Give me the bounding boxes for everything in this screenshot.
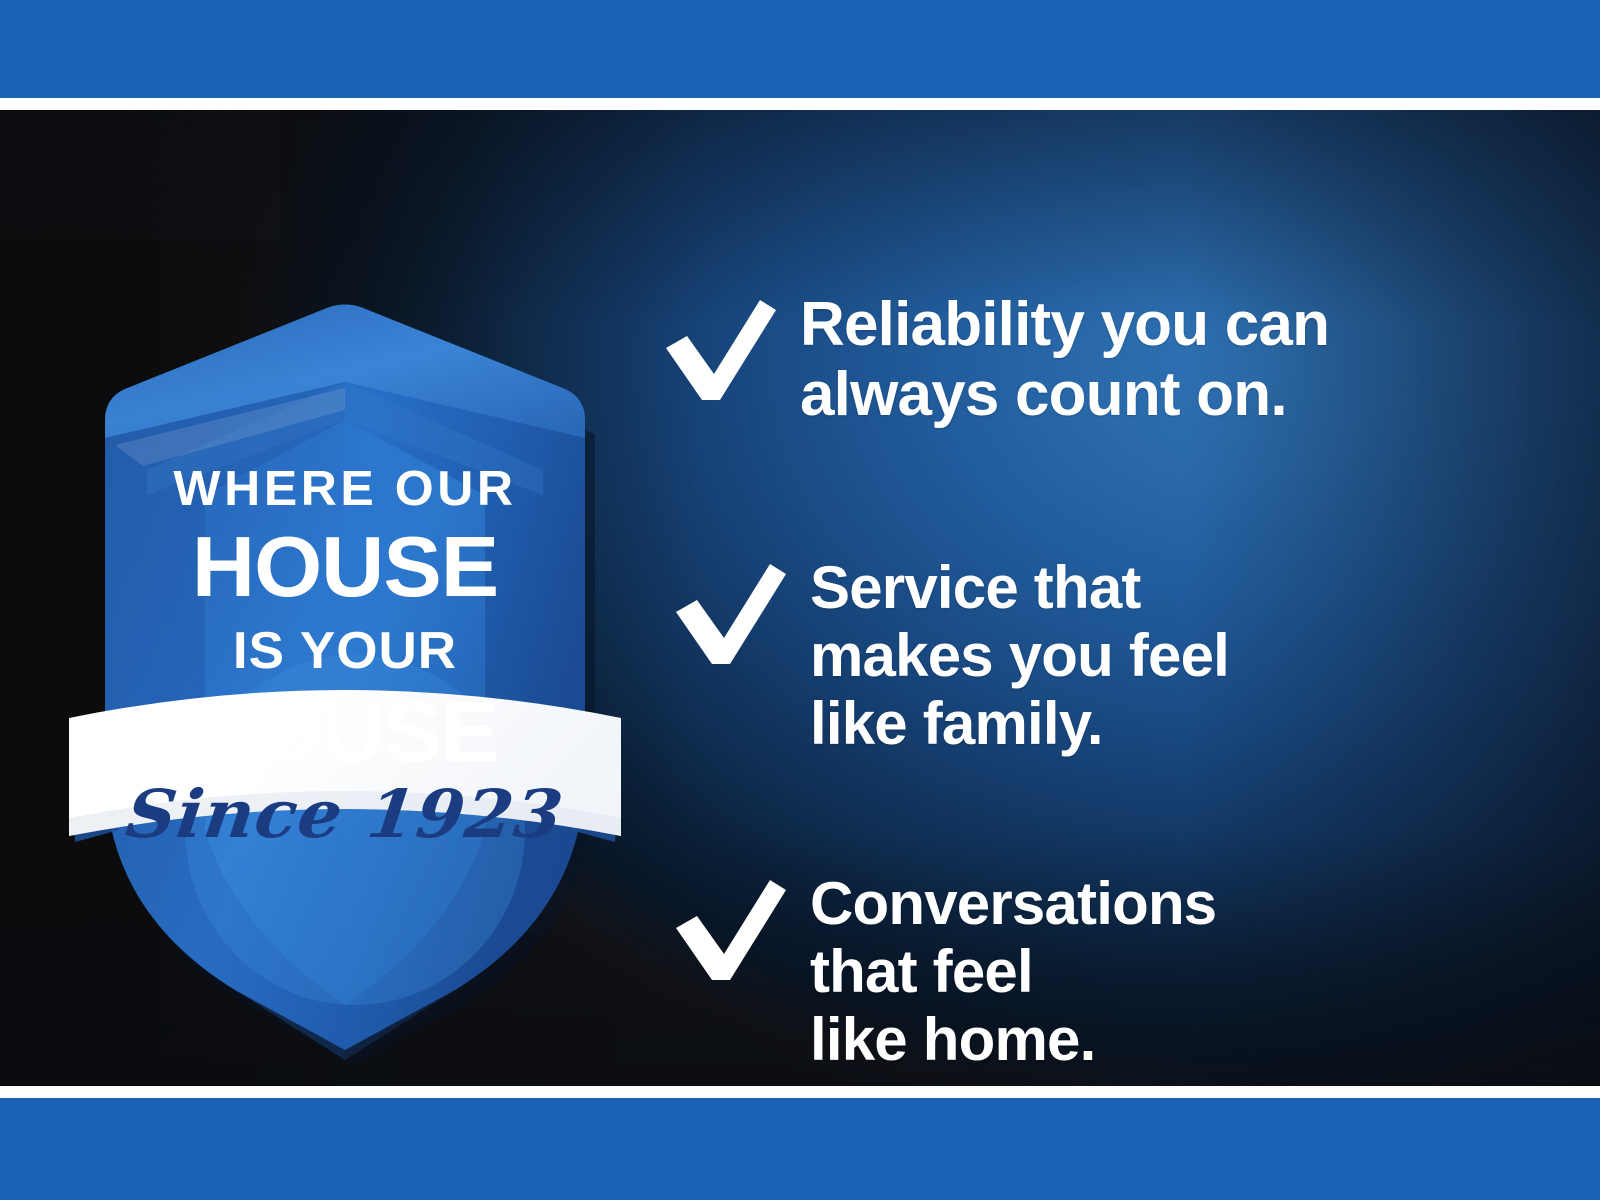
list-item-label: Conversations that feel like home. — [810, 870, 1216, 1073]
check-icon — [670, 876, 788, 988]
top-brand-bar — [0, 0, 1600, 98]
benefits-list: Reliability you can always count on. Ser… — [660, 262, 1540, 1086]
top-divider — [0, 98, 1600, 110]
bottom-brand-bar — [0, 1098, 1600, 1200]
bottom-divider — [0, 1086, 1600, 1098]
check-icon — [660, 296, 778, 408]
list-item-label: Service that makes you feel like family. — [810, 554, 1229, 757]
list-item-label: Reliability you can always count on. — [800, 290, 1329, 430]
list-item: Service that makes you feel like family. — [670, 554, 1229, 757]
check-icon — [670, 560, 788, 672]
list-item: Reliability you can always count on. — [660, 290, 1329, 430]
list-item: Conversations that feel like home. — [670, 870, 1216, 1073]
shield-emblem: WHERE OUR HOUSE IS YOUR HOUSE Since 1923 — [55, 270, 635, 1060]
promo-graphic: WHERE OUR HOUSE IS YOUR HOUSE Since 1923… — [0, 0, 1600, 1200]
main-stage: WHERE OUR HOUSE IS YOUR HOUSE Since 1923… — [0, 110, 1600, 1086]
